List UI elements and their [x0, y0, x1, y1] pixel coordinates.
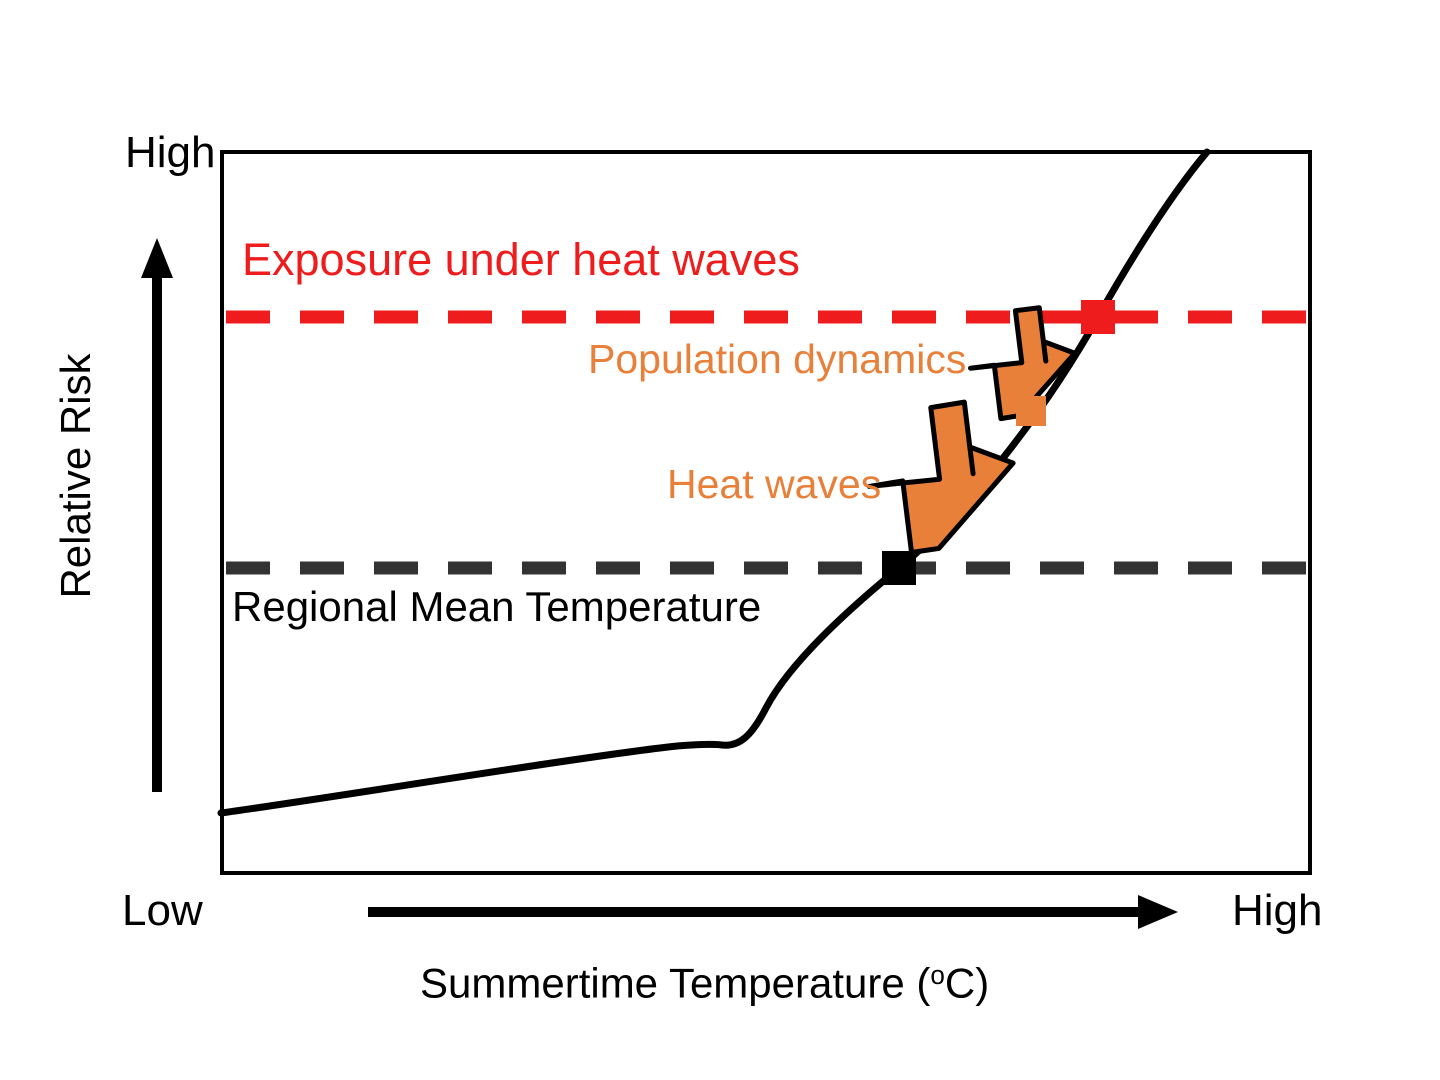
annotation-population-dynamics: Population dynamics: [588, 339, 966, 380]
x-axis-title: Summertime Temperature (oC): [420, 962, 989, 1005]
x-axis-high-label: High: [1232, 889, 1323, 933]
x-axis-arrow: [368, 895, 1178, 929]
x-axis-title-main: Summertime Temperature (: [420, 960, 930, 1007]
concept-chart: [0, 0, 1440, 1080]
annotation-regional-mean-temperature: Regional Mean Temperature: [232, 586, 761, 628]
y-axis-low-label: Low: [122, 889, 203, 933]
x-axis-title-tail: C): [945, 960, 989, 1007]
y-axis-high-label: High: [125, 131, 216, 175]
figure-canvas: High Low High Relative Risk Summertime T…: [0, 0, 1440, 1080]
y-axis-title: Relative Risk: [55, 346, 97, 606]
annotation-heat-waves: Heat waves: [667, 464, 881, 505]
marker-population-dynamics: [1081, 300, 1115, 334]
y-axis-arrow: [141, 238, 173, 792]
annotation-exposure-under-heat-waves: Exposure under heat waves: [242, 237, 800, 282]
marker-heat-wave: [1016, 396, 1046, 426]
marker-regional-mean: [882, 551, 916, 585]
degree-superscript: o: [930, 960, 944, 990]
